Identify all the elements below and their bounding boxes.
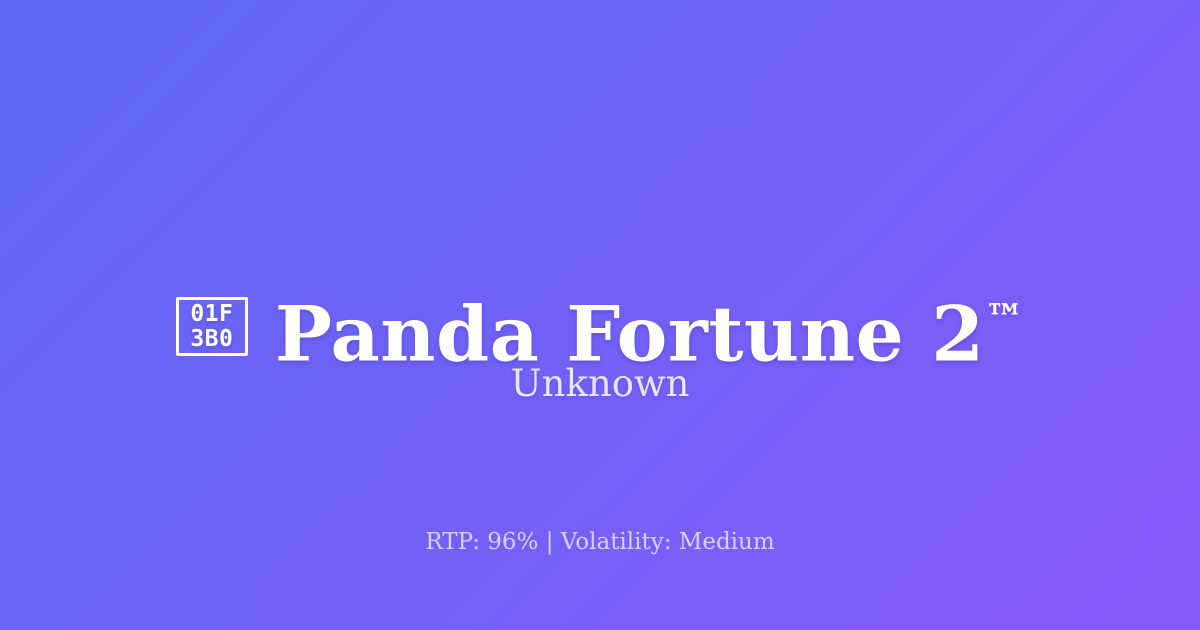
slot-machine-emoji-codepoint-low: 3B0 bbox=[190, 327, 233, 352]
game-provider: Unknown bbox=[0, 362, 1200, 406]
trademark-symbol: ™ bbox=[985, 296, 1025, 342]
game-preview-card: 01F 3B0 Panda Fortune 2™ Unknown RTP: 96… bbox=[0, 0, 1200, 630]
page-title: Panda Fortune 2™ bbox=[275, 279, 1024, 374]
slot-machine-emoji-codepoint-high: 01F bbox=[190, 302, 233, 327]
slot-machine-emoji-icon: 01F 3B0 bbox=[176, 297, 248, 356]
game-stats: RTP: 96% | Volatility: Medium bbox=[0, 527, 1200, 557]
